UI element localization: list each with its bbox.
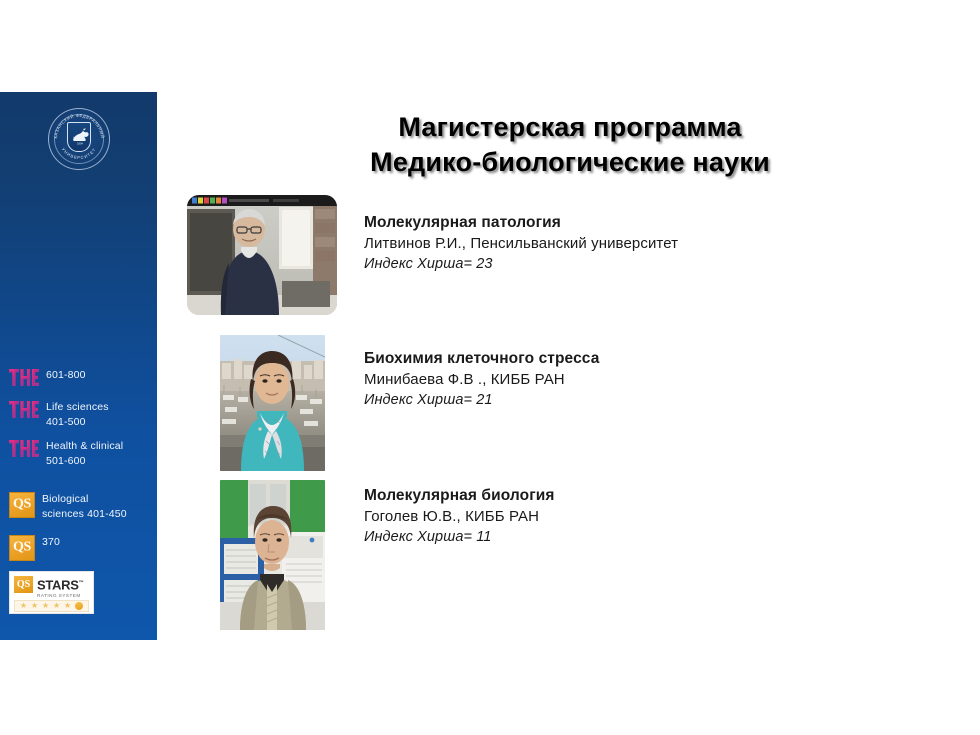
title-line-2: Медико-биологические науки: [200, 145, 940, 180]
kfu-emblem: КАЗАНСКИЙ ФЕДЕРАЛЬНЫЙ УНИВЕРСИТЕТ 1804: [48, 108, 110, 170]
slide-title: Магистерская программа Медико-биологичес…: [200, 110, 940, 180]
portrait-gogolev: [220, 480, 325, 630]
ranking-row-the-health-clinical: Health & clinical 501-600: [9, 439, 123, 469]
sidebar-panel: КАЗАНСКИЙ ФЕДЕРАЛЬНЫЙ УНИВЕРСИТЕТ 1804: [0, 92, 157, 640]
entry-h-index: Индекс Хирша= 21: [364, 390, 599, 411]
ranking-label: Biological sciences 401-450: [42, 492, 127, 522]
qs-logo-icon: QS: [14, 576, 33, 593]
emblem-shield: 1804: [67, 122, 91, 152]
ranking-row-qs-overall: QS 370: [9, 535, 60, 561]
entry-author: Литвинов Р.И., Пенсильванский университе…: [364, 233, 678, 254]
entry-h-index: Индекс Хирша= 23: [364, 254, 678, 275]
presentation-slide: КАЗАНСКИЙ ФЕДЕРАЛЬНЫЙ УНИВЕРСИТЕТ 1804: [0, 0, 980, 735]
entry-h-index: Индекс Хирша= 11: [364, 527, 555, 548]
ranking-row-qs-biological-sciences: QS Biological sciences 401-450: [9, 492, 127, 522]
entry-title: Молекулярная патология: [364, 212, 678, 233]
trademark-symbol: ™: [79, 580, 84, 586]
qs-stars-rating-strip: ★ ★ ★ ★ ★: [14, 600, 89, 612]
filled-dot-icon: [75, 602, 83, 610]
qs-stars-subtitle: RATING SYSTEM: [37, 593, 89, 598]
svg-text:1804: 1804: [77, 142, 83, 145]
ranking-label: Health & clinical 501-600: [46, 439, 123, 469]
entry-author: Гоголев Ю.В., КИББ РАН: [364, 506, 555, 527]
qs-logo-icon: QS: [9, 535, 35, 561]
ranking-row-the-overall: 601-800: [9, 368, 86, 392]
entry-author: Минибаева Ф.В ., КИББ РАН: [364, 369, 599, 390]
star-icon: ★: [53, 602, 60, 610]
star-icon: ★: [42, 602, 49, 610]
star-icon: ★: [31, 602, 38, 610]
qs-stars-wordmark: STARS™: [37, 577, 83, 591]
dragon-icon: 1804: [69, 125, 91, 145]
title-line-1: Магистерская программа: [200, 110, 940, 145]
the-logo-icon: [9, 439, 39, 463]
qs-logo-text: QS: [14, 576, 33, 593]
star-icon: ★: [64, 602, 71, 610]
ranking-label: 370: [42, 535, 60, 550]
ranking-row-the-life-sciences: Life sciences 401-500: [9, 400, 109, 430]
qs-stars-badge: QS STARS™ RATING SYSTEM ★ ★ ★ ★ ★: [9, 571, 94, 614]
ranking-label: 601-800: [46, 368, 86, 383]
the-logo-icon: [9, 400, 39, 424]
star-icon: ★: [20, 602, 27, 610]
entry-text-1: Молекулярная патология Литвинов Р.И., Пе…: [364, 212, 678, 275]
qs-logo-text: QS: [10, 497, 34, 513]
ranking-label: Life sciences 401-500: [46, 400, 109, 430]
entry-text-2: Биохимия клеточного стресса Минибаева Ф.…: [364, 348, 599, 411]
qs-logo-icon: QS: [9, 492, 35, 518]
entry-title: Молекулярная биология: [364, 485, 555, 506]
portrait-litvinov: [187, 195, 337, 315]
qs-logo-text: QS: [10, 540, 34, 556]
portrait-minibaeva: [220, 335, 325, 471]
entry-text-3: Молекулярная биология Гоголев Ю.В., КИББ…: [364, 485, 555, 548]
the-logo-icon: [9, 368, 39, 392]
qs-stars-header: QS STARS™: [14, 576, 89, 593]
qs-stars-word: STARS: [37, 578, 79, 593]
entry-title: Биохимия клеточного стресса: [364, 348, 599, 369]
